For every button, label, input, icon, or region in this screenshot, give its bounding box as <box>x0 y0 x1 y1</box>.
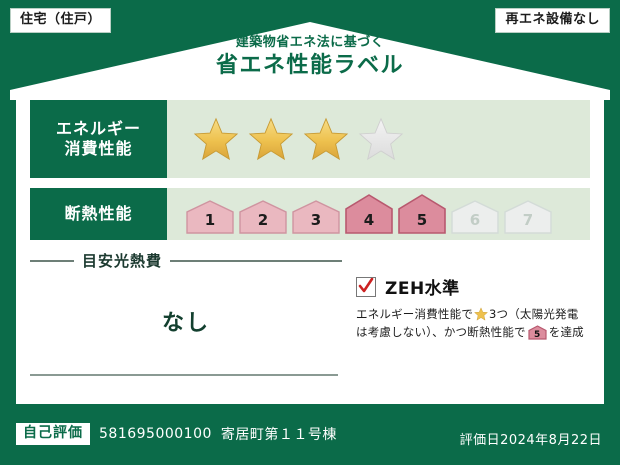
house-level-number: 1 <box>185 211 235 229</box>
house-icon-badge: 5 <box>528 325 547 340</box>
divider-right <box>170 260 342 262</box>
footer-left-group: 自己評価 581695000100 寄居町第１１号棟 <box>16 423 337 445</box>
energy-label-line1: エネルギー <box>56 119 141 139</box>
zeh-header: ZEH水準 <box>356 274 594 299</box>
check-icon <box>358 278 374 295</box>
house-level-number: 2 <box>238 211 288 229</box>
house-level-number: 3 <box>291 211 341 229</box>
insulation-performance-value: 1 2 3 4 <box>167 188 590 240</box>
utility-cost-bottom-rule <box>30 374 338 376</box>
self-evaluation-badge: 自己評価 <box>16 423 90 445</box>
tag-building-type: 住宅（住戸） <box>10 8 111 33</box>
zeh-description: エネルギー消費性能で 3つ（太陽光発電は考慮しない）、かつ断熱性能で 5 を達成 <box>356 306 594 342</box>
label-footer: 自己評価 581695000100 寄居町第１１号棟 評価日2024年8月22日 <box>0 409 620 465</box>
star-icon <box>248 117 294 161</box>
house-level-number: 4 <box>344 211 394 229</box>
utility-cost-value: なし <box>30 305 342 337</box>
insulation-performance-label: 断熱性能 <box>30 188 167 240</box>
star-icon-empty <box>358 117 404 161</box>
utility-cost-header: 目安光熱費 <box>30 250 342 271</box>
title-main: 省エネ性能ラベル <box>0 54 620 78</box>
house-icon-5: 5 <box>397 194 447 234</box>
zeh-desc-line2-part2: を達成 <box>549 325 584 339</box>
tag-renewable-energy: 再エネ設備なし <box>495 8 610 33</box>
zeh-checkbox[interactable] <box>356 277 376 297</box>
house-icon-2: 2 <box>238 200 288 234</box>
house-icon-6: 6 <box>450 200 500 234</box>
house-icon-3: 3 <box>291 200 341 234</box>
house-badge-number: 5 <box>528 331 547 340</box>
panel-divider <box>346 252 348 388</box>
star-icon <box>303 117 349 161</box>
utility-cost-title: 目安光熱費 <box>82 250 162 271</box>
star-rating <box>193 117 404 161</box>
house-level-number: 7 <box>503 211 553 229</box>
eco-performance-label: 住宅（住戸） 再エネ設備なし 建築物省エネ法に基づく 省エネ性能ラベル エネルギ… <box>0 0 620 465</box>
zeh-title: ZEH水準 <box>385 274 460 299</box>
star-icon <box>193 117 239 161</box>
house-level-number: 5 <box>397 211 447 229</box>
evaluation-date: 評価日2024年8月22日 <box>460 429 602 448</box>
house-icon-1: 1 <box>185 200 235 234</box>
insulation-performance-row: 断熱性能 1 2 3 <box>30 188 590 240</box>
zeh-desc-part2: 3つ（太陽光発電 <box>489 307 578 321</box>
insulation-scale: 1 2 3 4 <box>185 194 553 234</box>
house-icon-7: 7 <box>503 200 553 234</box>
energy-performance-label: エネルギー 消費性能 <box>30 100 167 178</box>
house-level-number: 6 <box>450 211 500 229</box>
zeh-block: ZEH水準 エネルギー消費性能で 3つ（太陽光発電は考慮しない）、かつ断熱性能で… <box>356 274 594 342</box>
title-subtitle: 建築物省エネ法に基づく <box>0 36 620 50</box>
energy-performance-value <box>167 100 590 178</box>
energy-performance-row: エネルギー 消費性能 <box>30 100 590 178</box>
zeh-desc-part1: エネルギー消費性能で <box>356 307 473 321</box>
divider-left <box>30 260 74 262</box>
house-icon-4: 4 <box>344 194 394 234</box>
utility-cost-block: 目安光熱費 なし <box>30 250 342 390</box>
insulation-label-text: 断熱性能 <box>64 204 132 224</box>
star-icon <box>474 307 488 321</box>
label-card: エネルギー 消費性能 <box>16 92 604 404</box>
page-title: 建築物省エネ法に基づく 省エネ性能ラベル <box>0 36 620 78</box>
energy-label-line2: 消費性能 <box>64 139 132 159</box>
zeh-desc-line2-part1: は考慮しない）、かつ断熱性能で <box>356 325 526 339</box>
footer-id: 581695000100 <box>99 426 212 442</box>
footer-building-name: 寄居町第１１号棟 <box>221 424 337 444</box>
